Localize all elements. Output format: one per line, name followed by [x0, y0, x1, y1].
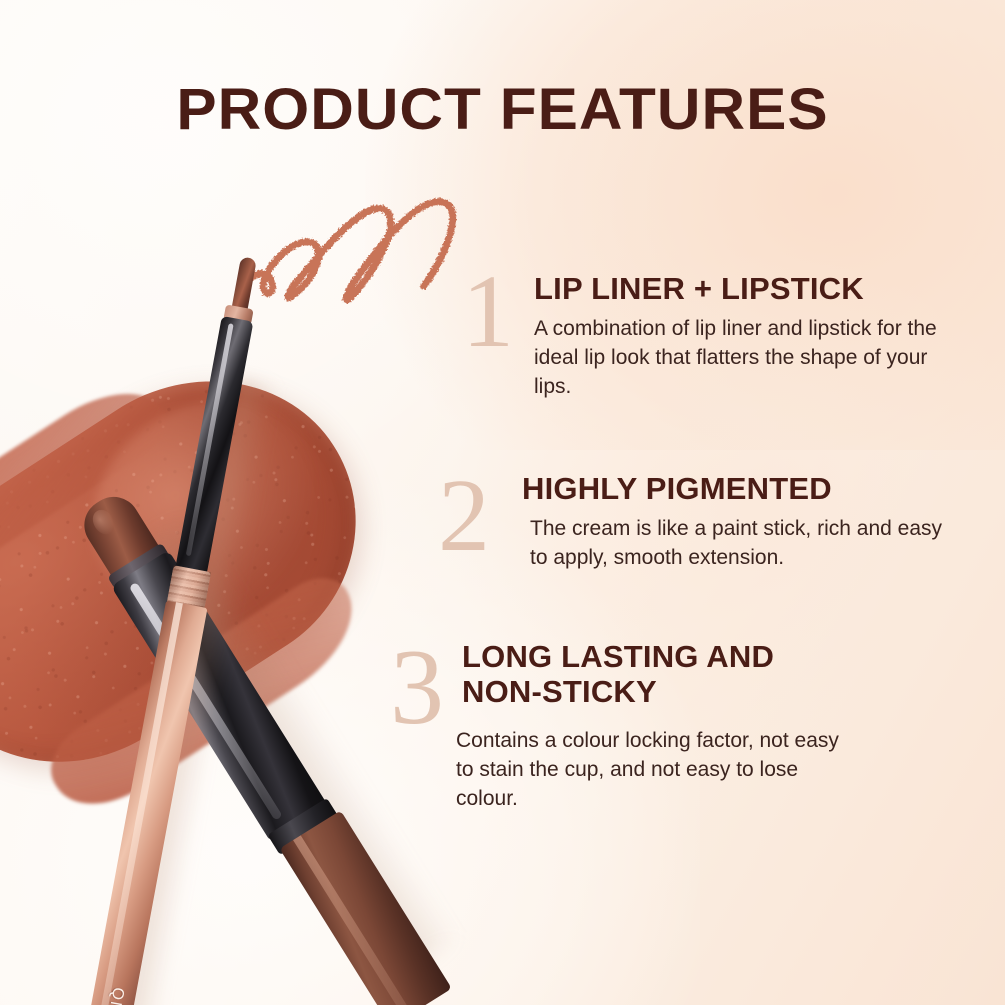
feature-description-2: The cream is like a paint stick, rich an…: [530, 515, 950, 573]
feature-number-1: 1: [462, 264, 514, 360]
feature-list: 1 LIP LINER + LIPSTICK A combination of …: [0, 0, 1005, 1005]
feature-body-2: HIGHLY PIGMENTED The cream is like a pai…: [522, 472, 950, 573]
feature-body-3: LONG LASTING AND NON-STICKY Contains a c…: [462, 640, 862, 814]
feature-heading-2: HIGHLY PIGMENTED: [522, 472, 950, 507]
feature-heading-1: LIP LINER + LIPSTICK: [534, 272, 952, 307]
product-features-banner: QIBEST BEAUTY PRODUCT FEATURES 1 LIP LIN…: [0, 0, 1005, 1005]
feature-number-3: 3: [390, 638, 444, 737]
feature-description-3: Contains a colour locking factor, not ea…: [456, 727, 856, 814]
feature-description-1: A combination of lip liner and lipstick …: [534, 315, 952, 402]
feature-heading-3: LONG LASTING AND NON-STICKY: [462, 640, 862, 709]
feature-body-1: LIP LINER + LIPSTICK A combination of li…: [534, 272, 952, 402]
feature-number-2: 2: [438, 468, 490, 564]
